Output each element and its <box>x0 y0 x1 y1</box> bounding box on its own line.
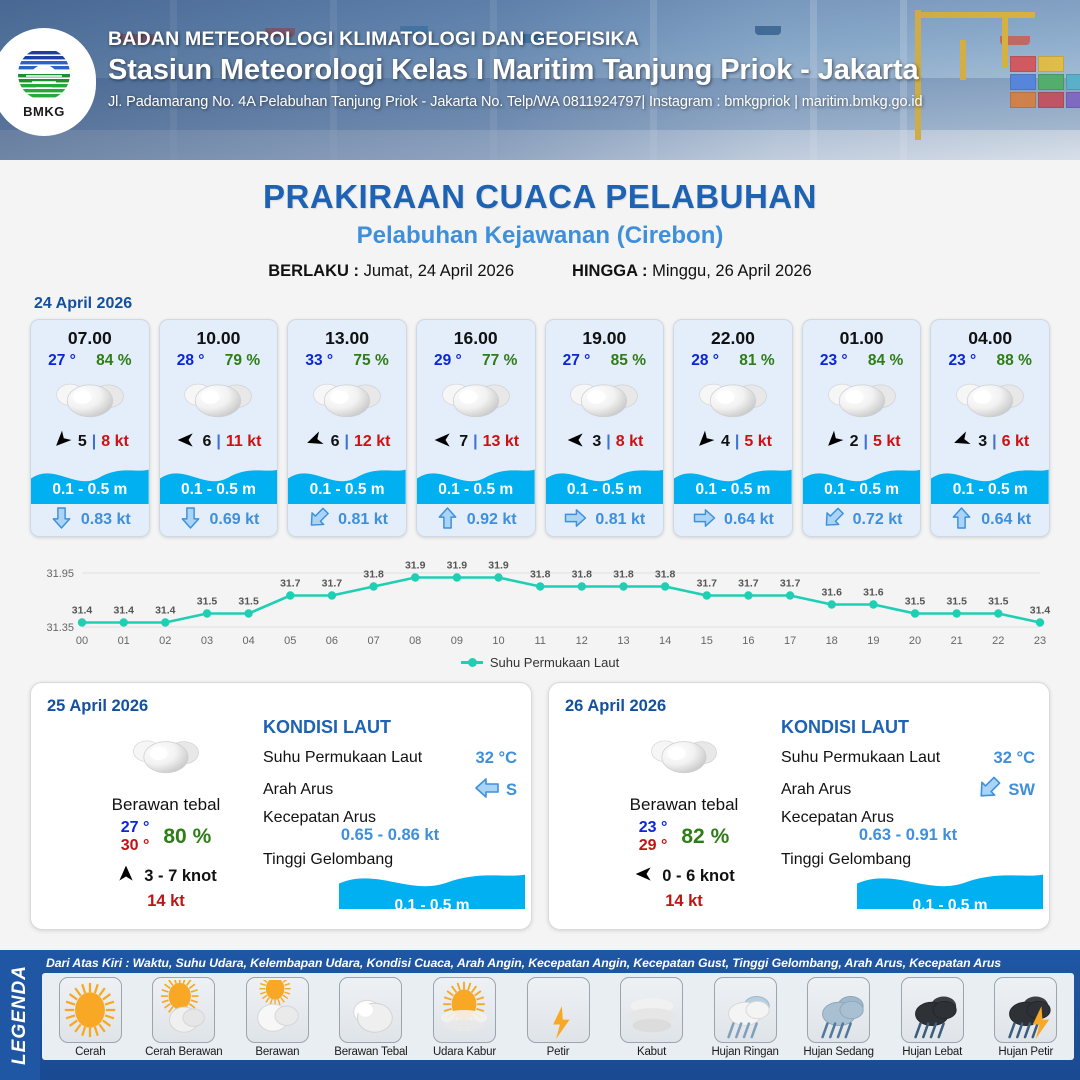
legend-item-label: Cerah <box>75 1046 105 1058</box>
card-time: 22.00 <box>674 320 792 351</box>
current-direction-arrow-icon <box>692 508 717 533</box>
wind-direction-value: 6 <box>202 433 211 451</box>
legend-item: Kabut <box>605 977 698 1058</box>
bmkg-logo-label: BMKG <box>23 104 65 119</box>
svg-text:11: 11 <box>534 635 545 647</box>
wind-direction-arrow-icon <box>432 430 454 455</box>
card-wind: 3 | 8 kt <box>546 426 664 460</box>
valid-from: BERLAKU : Jumat, 24 April 2026 <box>268 262 514 281</box>
panel-wind-range: 0 - 6 knot <box>662 867 734 886</box>
legend-item: Udara Kabur <box>418 977 511 1058</box>
cloud-icon <box>339 977 402 1043</box>
svg-text:31.4: 31.4 <box>113 605 134 617</box>
panel-current-dir-label: Arah Arus <box>263 781 333 799</box>
card-temperature: 33 ° <box>305 352 333 370</box>
wind-separator: | <box>606 433 610 451</box>
forecast-card: 04.00 23 ° 88 % 3 | 6 kt 0.1 - 0.5 m <box>930 319 1050 537</box>
page-subtitle: Pelabuhan Kejawanan (Cirebon) <box>0 222 1080 250</box>
card-temperature: 27 ° <box>48 352 76 370</box>
bmkg-logo: BMKG <box>0 28 96 136</box>
card-temp-humidity: 23 ° 88 % <box>931 351 1049 372</box>
svg-text:02: 02 <box>159 635 171 647</box>
agency-name: BADAN METEOROLOGI KLIMATOLOGI DAN GEOFIS… <box>108 28 1068 51</box>
weather-cloud-icon <box>288 372 406 426</box>
wind-direction-arrow-icon <box>694 430 716 455</box>
svg-text:31.7: 31.7 <box>738 578 759 590</box>
svg-text:31.95: 31.95 <box>46 568 74 580</box>
heavy-rain-icon <box>901 977 964 1043</box>
panel-sea-title: KONDISI LAUT <box>263 717 517 738</box>
panel-wind-direction-arrow-icon <box>115 864 137 889</box>
header-text-block: BADAN METEOROLOGI KLIMATOLOGI DAN GEOFIS… <box>108 28 1068 110</box>
card-temp-humidity: 29 ° 77 % <box>417 351 535 372</box>
legend-item-label: Berawan Tebal <box>334 1046 407 1058</box>
card-time: 04.00 <box>931 320 1049 351</box>
wind-speed-value: 6 kt <box>1002 433 1030 451</box>
current-direction-arrow-icon <box>49 508 74 533</box>
svg-text:23: 23 <box>1034 635 1046 647</box>
wind-direction-arrow-icon <box>951 430 973 455</box>
card-temperature: 23 ° <box>949 352 977 370</box>
panel-current-speed-label: Kecepatan Arus <box>263 809 376 827</box>
current-speed-value: 0.83 kt <box>81 511 131 529</box>
wind-direction-value: 2 <box>850 433 859 451</box>
wind-separator: | <box>992 433 996 451</box>
legend-item-list: Cerah Cerah Berawan Berawan <box>42 973 1074 1060</box>
wind-speed-value: 8 kt <box>616 433 644 451</box>
svg-text:12: 12 <box>576 635 588 647</box>
sst-legend-label: Suhu Permukaan Laut <box>490 655 619 670</box>
wave-height-value: 0.1 - 0.5 m <box>674 481 792 499</box>
panel-humidity: 82 % <box>681 825 729 849</box>
card-temperature: 23 ° <box>820 352 848 370</box>
panel-wave-graphic: 0.1 - 0.5 m <box>339 865 525 923</box>
wave-height-value: 0.1 - 0.5 m <box>803 481 921 499</box>
wind-direction-arrow-icon <box>51 430 73 455</box>
valid-to-value: Minggu, 26 April 2026 <box>652 262 812 280</box>
wind-separator: | <box>863 433 867 451</box>
svg-text:13: 13 <box>617 635 629 647</box>
moderate-rain-icon <box>807 977 870 1043</box>
card-current: 0.81 kt <box>288 504 406 536</box>
card-humidity: 84 % <box>96 352 131 370</box>
card-humidity: 79 % <box>225 352 260 370</box>
current-direction-arrow-icon <box>949 508 974 533</box>
svg-text:10: 10 <box>492 635 504 647</box>
svg-text:31.5: 31.5 <box>238 596 259 608</box>
svg-text:06: 06 <box>326 635 338 647</box>
wave-height-value: 0.1 - 0.5 m <box>417 481 535 499</box>
wind-direction-value: 6 <box>331 433 340 451</box>
panel-sea-conditions: KONDISI LAUT Suhu Permukaan Laut 32 °C A… <box>263 717 517 875</box>
wind-separator: | <box>345 433 349 451</box>
panel-temp-min: 27 ° <box>121 819 150 837</box>
wind-direction-arrow-icon <box>175 430 197 455</box>
forecast-card: 22.00 28 ° 81 % 4 | 5 kt 0.1 - 0.5 m <box>673 319 793 537</box>
panel-humidity: 80 % <box>163 825 211 849</box>
sst-chart: 31.3531.9531.40031.40131.40231.50331.504… <box>0 551 1080 670</box>
svg-text:15: 15 <box>701 635 713 647</box>
card-temp-humidity: 23 ° 84 % <box>803 351 921 372</box>
weather-cloud-icon <box>674 372 792 426</box>
svg-text:03: 03 <box>201 635 213 647</box>
legend-item: Cerah Berawan <box>138 977 231 1058</box>
svg-text:19: 19 <box>867 635 879 647</box>
svg-text:31.8: 31.8 <box>613 569 634 581</box>
thunderstorm-icon <box>994 977 1057 1043</box>
card-current: 0.72 kt <box>803 504 921 536</box>
panel-temps: 23 ° 29 ° 82 % <box>589 819 779 856</box>
forecast-card: 16.00 29 ° 77 % 7 | 13 kt 0.1 - 0.5 m <box>416 319 536 537</box>
svg-text:22: 22 <box>992 635 1004 647</box>
card-wind: 7 | 13 kt <box>417 426 535 460</box>
card-current: 0.64 kt <box>674 504 792 536</box>
card-wave: 0.1 - 0.5 m <box>417 460 535 504</box>
card-wind: 6 | 12 kt <box>288 426 406 460</box>
card-time: 16.00 <box>417 320 535 351</box>
weather-cloud-icon <box>803 372 921 426</box>
wind-direction-arrow-icon <box>304 430 326 455</box>
page-header: BMKG BADAN METEOROLOGI KLIMATOLOGI DAN G… <box>0 0 1080 160</box>
weather-cloud-icon <box>417 372 535 426</box>
card-wave: 0.1 - 0.5 m <box>31 460 149 504</box>
daily-summary-panels: 25 April 2026 Berawan tebal 27 ° 30 ° 80… <box>0 670 1080 930</box>
card-wave: 0.1 - 0.5 m <box>674 460 792 504</box>
svg-text:01: 01 <box>118 635 130 647</box>
card-current: 0.64 kt <box>931 504 1049 536</box>
panel-condition: Berawan tebal <box>71 795 261 815</box>
panel-left-column: Berawan tebal 23 ° 29 ° 82 % 0 - 6 knot … <box>589 727 779 911</box>
legend-item: Berawan <box>231 977 324 1058</box>
svg-text:31.7: 31.7 <box>322 578 343 590</box>
forecast-card-list: 07.00 27 ° 84 % 5 | 8 kt 0.1 - 0.5 m <box>0 319 1080 537</box>
panel-condition: Berawan tebal <box>589 795 779 815</box>
svg-text:31.5: 31.5 <box>988 596 1009 608</box>
legend-item-label: Udara Kabur <box>433 1046 496 1058</box>
sst-chart-legend: Suhu Permukaan Laut <box>26 655 1054 670</box>
svg-text:20: 20 <box>909 635 921 647</box>
wind-direction-arrow-icon <box>823 430 845 455</box>
panel-current-speed-value: 0.63 - 0.91 kt <box>781 826 1035 845</box>
card-time: 19.00 <box>546 320 664 351</box>
light-rain-icon <box>714 977 777 1043</box>
svg-text:31.8: 31.8 <box>530 569 551 581</box>
haze-icon <box>433 977 496 1043</box>
wind-direction-arrow-icon <box>565 430 587 455</box>
panel-sst-label: Suhu Permukaan Laut <box>781 749 940 767</box>
legend-item: Hujan Sedang <box>792 977 885 1058</box>
panel-current-speed-label: Kecepatan Arus <box>781 809 894 827</box>
card-temperature: 27 ° <box>563 352 591 370</box>
valid-from-value: Jumat, 24 April 2026 <box>364 262 514 280</box>
card-temperature: 28 ° <box>691 352 719 370</box>
panel-temp-max: 29 ° <box>639 837 668 855</box>
card-wind: 6 | 11 kt <box>160 426 278 460</box>
svg-text:31.6: 31.6 <box>821 587 842 599</box>
card-temp-humidity: 28 ° 81 % <box>674 351 792 372</box>
panel-wind: 3 - 7 knot <box>71 864 261 889</box>
sst-chart-plot: 31.3531.9531.40031.40131.40231.50331.504… <box>26 551 1054 649</box>
station-address: Jl. Padamarang No. 4A Pelabuhan Tanjung … <box>108 94 1068 110</box>
card-time: 13.00 <box>288 320 406 351</box>
panel-sst-label: Suhu Permukaan Laut <box>263 749 422 767</box>
wind-direction-value: 5 <box>78 433 87 451</box>
card-time: 07.00 <box>31 320 149 351</box>
svg-text:31.9: 31.9 <box>488 560 509 572</box>
panel-sst-row: Suhu Permukaan Laut 32 °C <box>781 742 1035 774</box>
wind-direction-value: 3 <box>592 433 601 451</box>
legend-bar: LEGENDA Dari Atas Kiri : Waktu, Suhu Uda… <box>0 950 1080 1080</box>
legend-item: Cerah <box>44 977 137 1058</box>
card-wind: 5 | 8 kt <box>31 426 149 460</box>
wind-speed-value: 5 kt <box>744 433 772 451</box>
legend-item-label: Hujan Sedang <box>803 1046 874 1058</box>
legend-item-label: Hujan Petir <box>998 1046 1053 1058</box>
current-direction-arrow-icon <box>306 508 331 533</box>
legend-body: Dari Atas Kiri : Waktu, Suhu Udara, Kele… <box>40 950 1080 1080</box>
wind-separator: | <box>92 433 96 451</box>
lightning-icon <box>527 977 590 1043</box>
legend-note: Dari Atas Kiri : Waktu, Suhu Udara, Kele… <box>42 954 1074 973</box>
svg-text:18: 18 <box>826 635 838 647</box>
weather-cloud-icon <box>931 372 1049 426</box>
legend-item-label: Berawan <box>255 1046 299 1058</box>
wind-separator: | <box>735 433 739 451</box>
svg-text:17: 17 <box>784 635 796 647</box>
legend-item-label: Petir <box>547 1046 570 1058</box>
panel-current-direction-arrow-icon <box>976 776 1002 805</box>
card-humidity: 75 % <box>353 352 388 370</box>
card-wave: 0.1 - 0.5 m <box>546 460 664 504</box>
wave-height-value: 0.1 - 0.5 m <box>931 481 1049 499</box>
panel-gust: 14 kt <box>589 892 779 911</box>
svg-text:00: 00 <box>76 635 88 647</box>
cloud-sun-icon <box>246 977 309 1043</box>
panel-current-direction-arrow-icon <box>474 776 500 805</box>
wave-height-value: 0.1 - 0.5 m <box>31 481 149 499</box>
svg-text:31.4: 31.4 <box>1030 605 1051 617</box>
current-speed-value: 0.64 kt <box>981 511 1031 529</box>
panel-gust: 14 kt <box>71 892 261 911</box>
card-wind: 3 | 6 kt <box>931 426 1049 460</box>
card-temp-humidity: 28 ° 79 % <box>160 351 278 372</box>
current-speed-value: 0.72 kt <box>853 511 903 529</box>
card-wave: 0.1 - 0.5 m <box>160 460 278 504</box>
panel-current-speed-value: 0.65 - 0.86 kt <box>263 826 517 845</box>
svg-text:05: 05 <box>284 635 296 647</box>
panel-wind-direction-arrow-icon <box>633 864 655 889</box>
legend-item: Hujan Petir <box>979 977 1072 1058</box>
svg-text:31.7: 31.7 <box>697 578 718 590</box>
wave-height-value: 0.1 - 0.5 m <box>546 481 664 499</box>
card-humidity: 77 % <box>482 352 517 370</box>
panel-current-dir-label: Arah Arus <box>781 781 851 799</box>
svg-text:31.4: 31.4 <box>72 605 93 617</box>
sst-legend-marker <box>461 661 483 664</box>
daily-summary-panel: 25 April 2026 Berawan tebal 27 ° 30 ° 80… <box>30 682 532 930</box>
card-temperature: 28 ° <box>177 352 205 370</box>
legend-item-label: Cerah Berawan <box>145 1046 222 1058</box>
wind-direction-value: 4 <box>721 433 730 451</box>
panel-current-dir-value: SW <box>1008 781 1035 800</box>
weather-cloud-icon <box>546 372 664 426</box>
wind-separator: | <box>473 433 477 451</box>
card-time: 10.00 <box>160 320 278 351</box>
panel-temp-max: 30 ° <box>121 837 150 855</box>
card-wave: 0.1 - 0.5 m <box>288 460 406 504</box>
current-speed-value: 0.64 kt <box>724 511 774 529</box>
panel-sst-row: Suhu Permukaan Laut 32 °C <box>263 742 517 774</box>
card-humidity: 88 % <box>997 352 1032 370</box>
bmkg-logo-mark <box>16 46 72 102</box>
valid-to: HINGGA : Minggu, 26 April 2026 <box>572 262 812 281</box>
weather-cloud-icon <box>160 372 278 426</box>
wind-direction-value: 7 <box>459 433 468 451</box>
forecast-day-label: 24 April 2026 <box>34 295 1080 313</box>
svg-text:31.9: 31.9 <box>405 560 426 572</box>
card-humidity: 85 % <box>611 352 646 370</box>
panel-sst-value: 32 °C <box>994 749 1035 768</box>
card-wind: 4 | 5 kt <box>674 426 792 460</box>
current-direction-arrow-icon <box>821 508 846 533</box>
panel-temp-min: 23 ° <box>639 819 668 837</box>
legend-item: Berawan Tebal <box>325 977 418 1058</box>
legend-item: Hujan Ringan <box>699 977 792 1058</box>
card-humidity: 84 % <box>868 352 903 370</box>
card-temp-humidity: 33 ° 75 % <box>288 351 406 372</box>
card-temp-humidity: 27 ° 85 % <box>546 351 664 372</box>
valid-to-label: HINGGA : <box>572 262 647 280</box>
svg-text:31.9: 31.9 <box>447 560 468 572</box>
legenda-side: LEGENDA <box>0 950 40 1080</box>
svg-text:31.4: 31.4 <box>155 605 176 617</box>
page-title: PRAKIRAAN CUACA PELABUHAN <box>0 178 1080 216</box>
panel-sea-title: KONDISI LAUT <box>781 717 1035 738</box>
current-speed-value: 0.81 kt <box>338 511 388 529</box>
legend-item-label: Hujan Lebat <box>902 1046 962 1058</box>
daily-summary-panel: 26 April 2026 Berawan tebal 23 ° 29 ° 82… <box>548 682 1050 930</box>
forecast-card: 07.00 27 ° 84 % 5 | 8 kt 0.1 - 0.5 m <box>30 319 150 537</box>
svg-text:31.8: 31.8 <box>655 569 676 581</box>
panel-date: 26 April 2026 <box>565 697 1033 716</box>
card-current: 0.69 kt <box>160 504 278 536</box>
current-direction-arrow-icon <box>563 508 588 533</box>
legend-item-label: Kabut <box>637 1046 666 1058</box>
svg-text:31.7: 31.7 <box>780 578 801 590</box>
card-current: 0.83 kt <box>31 504 149 536</box>
panel-current-dir-row: Arah Arus S <box>263 774 517 806</box>
wave-height-value: 0.1 - 0.5 m <box>160 481 278 499</box>
sun-icon <box>59 977 122 1043</box>
panel-sst-value: 32 °C <box>476 749 517 768</box>
card-temp-humidity: 27 ° 84 % <box>31 351 149 372</box>
legend-item-label: Hujan Ringan <box>711 1046 778 1058</box>
wind-speed-value: 11 kt <box>226 433 262 451</box>
current-speed-value: 0.92 kt <box>467 511 517 529</box>
card-wave: 0.1 - 0.5 m <box>931 460 1049 504</box>
current-direction-arrow-icon <box>435 508 460 533</box>
svg-text:21: 21 <box>951 635 963 647</box>
svg-text:14: 14 <box>659 635 671 647</box>
svg-text:31.5: 31.5 <box>197 596 218 608</box>
svg-text:31.5: 31.5 <box>946 596 967 608</box>
card-wave: 0.1 - 0.5 m <box>803 460 921 504</box>
station-name: Stasiun Meteorologi Kelas I Maritim Tanj… <box>108 54 1068 87</box>
forecast-card: 10.00 28 ° 79 % 6 | 11 kt 0.1 - 0.5 m <box>159 319 279 537</box>
current-speed-value: 0.69 kt <box>210 511 260 529</box>
panel-wave-value: 0.1 - 0.5 m <box>857 897 1043 915</box>
panel-sea-conditions: KONDISI LAUT Suhu Permukaan Laut 32 °C A… <box>781 717 1035 875</box>
panel-date: 25 April 2026 <box>47 697 515 716</box>
card-humidity: 81 % <box>739 352 774 370</box>
panel-weather-cloud-icon <box>71 727 261 783</box>
current-direction-arrow-icon <box>178 508 203 533</box>
panel-weather-cloud-icon <box>589 727 779 783</box>
panel-current-dir-value: S <box>506 781 517 800</box>
sst-chart-svg: 31.3531.9531.40031.40131.40231.50331.504… <box>26 551 1054 649</box>
card-temperature: 29 ° <box>434 352 462 370</box>
svg-text:31.5: 31.5 <box>905 596 926 608</box>
forecast-card: 13.00 33 ° 75 % 6 | 12 kt 0.1 - 0.5 m <box>287 319 407 537</box>
wind-separator: | <box>216 433 220 451</box>
panel-wind: 0 - 6 knot <box>589 864 779 889</box>
wind-speed-value: 5 kt <box>873 433 901 451</box>
wind-speed-value: 12 kt <box>354 433 390 451</box>
svg-text:31.7: 31.7 <box>280 578 301 590</box>
wind-direction-value: 3 <box>978 433 987 451</box>
card-time: 01.00 <box>803 320 921 351</box>
card-current: 0.92 kt <box>417 504 535 536</box>
legend-item: Petir <box>512 977 605 1058</box>
panel-wind-range: 3 - 7 knot <box>144 867 216 886</box>
svg-text:16: 16 <box>742 635 754 647</box>
card-current: 0.81 kt <box>546 504 664 536</box>
card-wind: 2 | 5 kt <box>803 426 921 460</box>
valid-from-label: BERLAKU : <box>268 262 359 280</box>
svg-text:31.8: 31.8 <box>572 569 593 581</box>
panel-temps: 27 ° 30 ° 80 % <box>71 819 261 856</box>
panel-wave-value: 0.1 - 0.5 m <box>339 897 525 915</box>
fog-icon <box>620 977 683 1043</box>
svg-text:08: 08 <box>409 635 421 647</box>
forecast-card: 01.00 23 ° 84 % 2 | 5 kt 0.1 - 0.5 m <box>802 319 922 537</box>
wave-height-value: 0.1 - 0.5 m <box>288 481 406 499</box>
panel-current-dir-row: Arah Arus SW <box>781 774 1035 806</box>
panel-wave-graphic: 0.1 - 0.5 m <box>857 865 1043 923</box>
svg-text:31.8: 31.8 <box>363 569 384 581</box>
svg-text:04: 04 <box>242 635 254 647</box>
wind-speed-value: 8 kt <box>101 433 129 451</box>
sun-cloud-icon <box>152 977 215 1043</box>
panel-left-column: Berawan tebal 27 ° 30 ° 80 % 3 - 7 knot … <box>71 727 261 911</box>
weather-cloud-icon <box>31 372 149 426</box>
legend-item: Hujan Lebat <box>886 977 979 1058</box>
svg-text:07: 07 <box>367 635 379 647</box>
svg-text:09: 09 <box>451 635 463 647</box>
svg-text:31.6: 31.6 <box>863 587 884 599</box>
validity-row: BERLAKU : Jumat, 24 April 2026 HINGGA : … <box>0 262 1080 281</box>
svg-text:31.35: 31.35 <box>46 622 74 634</box>
legenda-label: LEGENDA <box>9 965 31 1065</box>
forecast-card: 19.00 27 ° 85 % 3 | 8 kt 0.1 - 0.5 m <box>545 319 665 537</box>
current-speed-value: 0.81 kt <box>595 511 645 529</box>
wind-speed-value: 13 kt <box>483 433 519 451</box>
